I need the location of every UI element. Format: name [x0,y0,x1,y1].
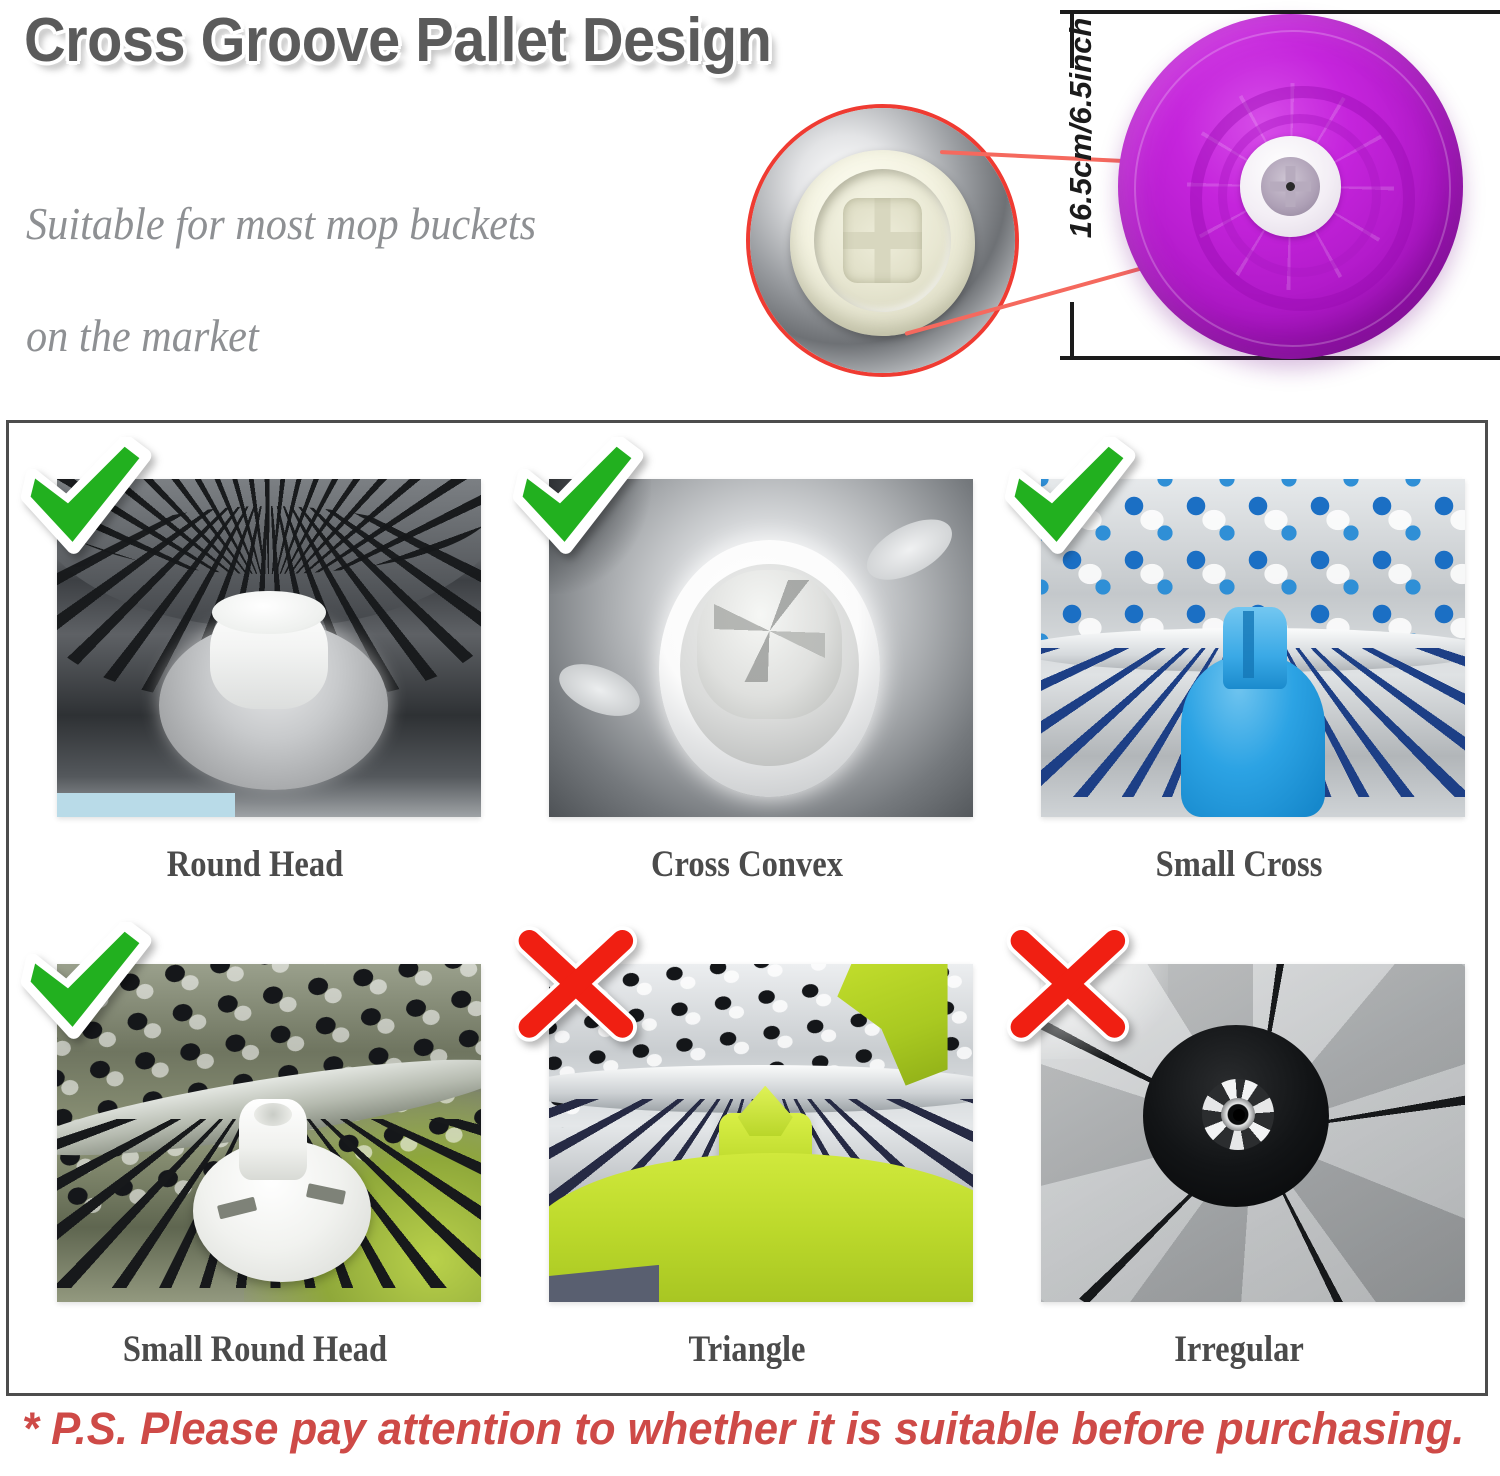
compatibility-cell-cross-convex: Cross Convex [501,423,993,908]
cell-label-cross-convex: Cross Convex [531,843,964,886]
purple-pallet-disc [1118,14,1463,359]
cross-icon [509,922,645,1048]
compatibility-cell-small-round-head: Small Round Head [9,908,501,1393]
header-section: Cross Groove Pallet Design Suitable for … [0,0,1500,418]
cross-groove-shape [843,198,923,283]
compatibility-grid: Round Head Cross Convex [9,423,1485,1393]
compatibility-cell-round-head: Round Head [9,423,501,908]
purchase-disclaimer: * P.S. Please pay attention to whether i… [22,1404,1438,1454]
compatibility-cell-irregular: Irregular [993,908,1485,1393]
dimension-label: 16.5cm/6.5inch [1063,3,1099,253]
disc-hub-center-dot [1286,182,1295,191]
cell-label-irregular: Irregular [1023,1328,1456,1371]
cell-label-small-round-head: Small Round Head [39,1328,472,1371]
check-icon [1001,437,1137,563]
page-title: Cross Groove Pallet Design [24,6,771,76]
cell-label-small-cross: Small Cross [1023,843,1456,886]
cell-label-round-head: Round Head [39,843,472,886]
compatibility-cell-triangle: Triangle [501,908,993,1393]
cross-icon [1001,922,1137,1048]
subtitle-line-1: Suitable for most mop buckets [26,168,707,280]
cell-label-triangle: Triangle [531,1328,964,1371]
check-icon [17,922,153,1048]
subtitle-line-2: on the market [26,280,707,392]
check-icon [509,437,645,563]
compatibility-panel: Round Head Cross Convex [6,420,1488,1396]
socket-closeup-callout [746,104,1019,377]
dimension-bracket: 16.5cm/6.5inch [1060,10,1084,360]
check-icon [17,437,153,563]
subtitle: Suitable for most mop buckets on the mar… [26,168,707,392]
dimension-bar-lower [1070,302,1074,358]
compatibility-cell-small-cross: Small Cross [993,423,1485,908]
